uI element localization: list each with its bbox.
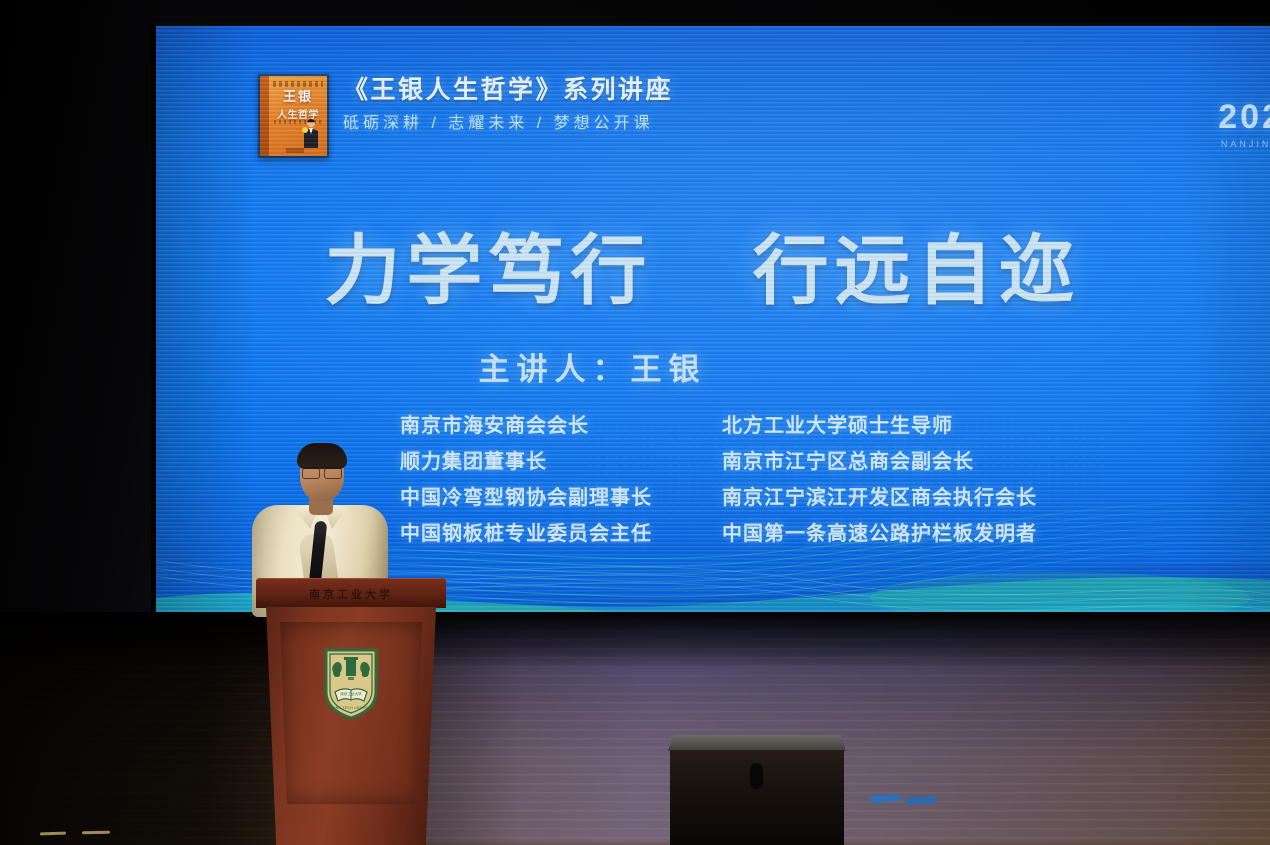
crest-year: 1902 — [348, 677, 355, 681]
stage-left-wall — [0, 0, 160, 640]
book-cover-image: 王银 人生哲学 — [258, 74, 329, 158]
credentials-column-right: 北方工业大学硕士生导师 南京市江宁区总商会副会长 南京江宁滨江开发区商会执行会长… — [722, 414, 1052, 546]
floor-shadow-band — [0, 612, 1270, 670]
podium-top-surface: 南京工业大学 — [256, 578, 446, 608]
crest-latin-name: NANJING TECH UNIVERSITY — [324, 706, 378, 710]
credential-item: 南京市海安商会会长 — [400, 414, 652, 438]
credential-item: 北方工业大学硕士生导师 — [722, 414, 1052, 438]
year-number: 202 — [1218, 98, 1270, 137]
lecture-series-title: 《王银人生哲学》系列讲座 — [343, 76, 673, 104]
credential-item: 中国钢板桩专业委员会主任 — [400, 522, 652, 546]
credentials-block: 南京市海安商会会长 顺力集团董事长 中国冷弯型钢协会副理事长 中国钢板桩专业委员… — [400, 414, 1052, 546]
stage-monitor-speaker — [668, 735, 846, 845]
book-publisher-mark — [260, 148, 327, 153]
main-title-part1: 力学笃行 — [324, 229, 652, 314]
monitor-handle — [750, 763, 763, 789]
slide-main-title: 力学笃行 行远自迩 — [155, 234, 1270, 310]
podium: 南京工业大学 南京工业大学 NANJING TECH UNIVERSITY 19… — [256, 578, 446, 845]
book-spine — [260, 76, 269, 156]
year-org-label: NANJING — [1218, 139, 1270, 149]
podium-top-text: 南京工业大学 — [256, 586, 446, 602]
stage-photo-scene: 王银 人生哲学 《王银人生哲学》系列讲座 砥砺深耕 / 志耀未来 / 梦想公开课 — [0, 0, 1270, 845]
stage-floor — [0, 612, 1270, 845]
book-cartoon-figure — [300, 118, 322, 148]
eyeglasses — [302, 467, 342, 476]
header-text-block: 《王银人生哲学》系列讲座 砥砺深耕 / 志耀未来 / 梦想公开课 — [343, 74, 673, 133]
credentials-column-left: 南京市海安商会会长 顺力集团董事长 中国冷弯型钢协会副理事长 中国钢板桩专业委员… — [400, 414, 652, 546]
credential-item: 南京江宁滨江开发区商会执行会长 — [722, 486, 1052, 510]
year-badge: 202 NANJING — [1218, 98, 1270, 149]
credential-item: 南京市江宁区总商会副会长 — [722, 450, 1052, 474]
credential-item: 中国冷弯型钢协会副理事长 — [400, 486, 652, 510]
main-title-part2: 行远自迩 — [753, 229, 1081, 314]
floor-debris — [82, 831, 110, 834]
credential-item: 中国第一条高速公路护栏板发明者 — [722, 522, 1052, 546]
slide-header: 王银 人生哲学 《王银人生哲学》系列讲座 砥砺深耕 / 志耀未来 / 梦想公开课 — [258, 74, 673, 158]
book-title: 王银 — [273, 90, 323, 103]
university-crest: 南京工业大学 NANJING TECH UNIVERSITY 1902 — [324, 648, 378, 720]
speaker-hair — [297, 443, 347, 469]
speaker-name-line: 主讲人：王银 — [155, 344, 1270, 389]
crest-chinese-name: 南京工业大学 — [340, 691, 362, 696]
credential-item: 顺力集团董事长 — [400, 450, 652, 474]
monitor-top-panel — [668, 735, 846, 751]
book-top-ornament — [273, 81, 323, 87]
lecture-tagline: 砥砺深耕 / 志耀未来 / 梦想公开课 — [343, 109, 673, 133]
